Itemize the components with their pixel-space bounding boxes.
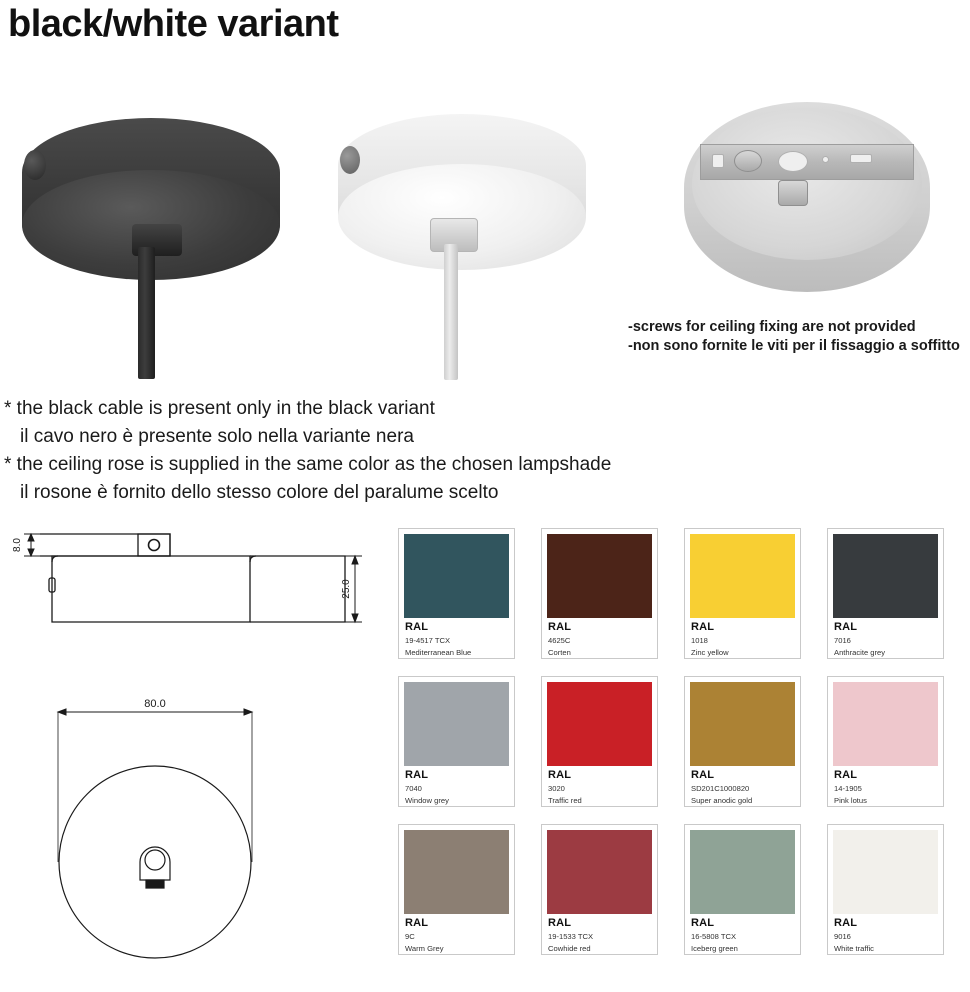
swatch-name: Pink lotus (834, 795, 937, 807)
swatch-card[interactable]: RAL 14-1905 Pink lotus (827, 676, 944, 807)
swatch-code: 16-5808 TCX (691, 931, 794, 943)
dim-height-label: 25.0 (341, 579, 352, 599)
swatch-meta: RAL 3020 Traffic red (547, 766, 652, 806)
swatch-color-block (833, 830, 938, 914)
footnotes: * the black cable is present only in the… (4, 395, 764, 507)
swatch-brand: RAL (834, 621, 937, 635)
footnote-1-it: il cavo nero è presente solo nella varia… (4, 423, 764, 451)
technical-drawings: 8.0 25.0 80.0 (0, 522, 390, 971)
swatch-meta: RAL 9C Warm Grey (404, 914, 509, 954)
side-screw-white-icon (340, 146, 360, 174)
dim-diameter-label: 80.0 (144, 698, 165, 710)
swatch-meta: RAL SD201C1000820 Super anodic gold (690, 766, 795, 806)
swatch-name: Window grey (405, 795, 508, 807)
swatch-card[interactable]: RAL 4625C Corten (541, 528, 658, 659)
fixing-hole (149, 540, 160, 551)
swatch-color-block (547, 534, 652, 618)
swatch-color-block (833, 682, 938, 766)
swatch-name: Anthracite grey (834, 647, 937, 659)
swatch-card[interactable]: RAL 16-5808 TCX Iceberg green (684, 824, 801, 955)
swatch-name: Iceberg green (691, 943, 794, 955)
swatch-card[interactable]: RAL 19-4517 TCX Mediterranean Blue (398, 528, 515, 659)
swatch-name: Super anodic gold (691, 795, 794, 807)
swatch-color-block (690, 830, 795, 914)
swatch-brand: RAL (691, 769, 794, 783)
swatch-color-block (547, 830, 652, 914)
swatch-name: Corten (548, 647, 651, 659)
swatch-code: 7040 (405, 783, 508, 795)
swatch-brand: RAL (548, 769, 651, 783)
rose-face-white (338, 164, 586, 270)
side-screw-black-icon (24, 150, 46, 180)
swatch-code: 9C (405, 931, 508, 943)
screws-note-en: -screws for ceiling fixing are not provi… (628, 318, 970, 337)
swatch-color-block (690, 682, 795, 766)
swatch-name: Mediterranean Blue (405, 647, 508, 659)
swatch-code: 4625C (548, 635, 651, 647)
bracket-slot-left (712, 154, 724, 168)
swatch-name: White traffic (834, 943, 937, 955)
swatch-brand: RAL (691, 621, 794, 635)
swatch-code: 1018 (691, 635, 794, 647)
swatch-brand: RAL (834, 917, 937, 931)
swatch-color-block (833, 534, 938, 618)
swatch-meta: RAL 16-5808 TCX Iceberg green (690, 914, 795, 954)
photo-ceiling-rose-white (320, 92, 630, 382)
swatch-card[interactable]: RAL 19-1533 TCX Cowhide red (541, 824, 658, 955)
swatch-brand: RAL (548, 621, 651, 635)
swatch-card[interactable]: RAL 9016 White traffic (827, 824, 944, 955)
page-title: black/white variant (8, 2, 339, 48)
swatch-meta: RAL 7016 Anthracite grey (833, 618, 938, 658)
cable-white (444, 244, 458, 380)
swatch-meta: RAL 1018 Zinc yellow (690, 618, 795, 658)
swatch-color-block (404, 534, 509, 618)
swatch-brand: RAL (691, 917, 794, 931)
swatch-code: SD201C1000820 (691, 783, 794, 795)
bracket-slot-right (850, 154, 872, 163)
photo-ceiling-rose-interior (660, 92, 960, 317)
swatch-brand: RAL (405, 917, 508, 931)
swatch-meta: RAL 7040 Window grey (404, 766, 509, 806)
swatch-meta: RAL 14-1905 Pink lotus (833, 766, 938, 806)
swatch-color-block (547, 682, 652, 766)
bracket-centre-hole (778, 151, 808, 172)
footnote-1-en: * the black cable is present only in the… (4, 395, 764, 423)
swatch-name: Cowhide red (548, 943, 651, 955)
swatch-card[interactable]: RAL SD201C1000820 Super anodic gold (684, 676, 801, 807)
dim-thickness-label: 8.0 (12, 538, 23, 552)
bracket-small-hole (822, 156, 829, 163)
swatch-brand: RAL (405, 769, 508, 783)
swatch-card[interactable]: RAL 7016 Anthracite grey (827, 528, 944, 659)
swatch-brand: RAL (405, 621, 508, 635)
side-elevation-drawing: 8.0 25.0 (0, 522, 390, 652)
screws-note-it: -non sono fornite le viti per il fissagg… (628, 337, 970, 356)
swatch-brand: RAL (834, 769, 937, 783)
centre-hex-nut (778, 180, 808, 206)
swatch-name: Traffic red (548, 795, 651, 807)
footnote-2-it: il rosone è fornito dello stesso colore … (4, 479, 764, 507)
swatch-meta: RAL 9016 White traffic (833, 914, 938, 954)
swatch-code: 14-1905 (834, 783, 937, 795)
swatch-code: 19-4517 TCX (405, 635, 508, 647)
swatch-code: 19-1533 TCX (548, 931, 651, 943)
swatch-card[interactable]: RAL 9C Warm Grey (398, 824, 515, 955)
photo-ceiling-rose-black (8, 92, 318, 382)
swatch-code: 9016 (834, 931, 937, 943)
plan-outer-circle (59, 766, 251, 958)
swatch-meta: RAL 19-4517 TCX Mediterranean Blue (404, 618, 509, 658)
swatch-name: Zinc yellow (691, 647, 794, 659)
ral-color-swatch-grid: RAL 19-4517 TCX Mediterranean Blue RAL 4… (398, 528, 970, 956)
swatch-code: 3020 (548, 783, 651, 795)
screws-note: -screws for ceiling fixing are not provi… (628, 318, 970, 356)
swatch-card[interactable]: RAL 3020 Traffic red (541, 676, 658, 807)
swatch-card[interactable]: RAL 7040 Window grey (398, 676, 515, 807)
swatch-card[interactable]: RAL 1018 Zinc yellow (684, 528, 801, 659)
swatch-color-block (404, 682, 509, 766)
swatch-code: 7016 (834, 635, 937, 647)
bracket-screw-left (734, 150, 762, 172)
swatch-meta: RAL 4625C Corten (547, 618, 652, 658)
plan-view-drawing: 80.0 (0, 692, 390, 992)
plan-centre-fitting (140, 847, 170, 888)
swatch-color-block (404, 830, 509, 914)
swatch-meta: RAL 19-1533 TCX Cowhide red (547, 914, 652, 954)
swatch-color-block (690, 534, 795, 618)
cable-black (138, 247, 155, 379)
swatch-brand: RAL (548, 917, 651, 931)
footnote-2-en: * the ceiling rose is supplied in the sa… (4, 451, 764, 479)
swatch-name: Warm Grey (405, 943, 508, 955)
